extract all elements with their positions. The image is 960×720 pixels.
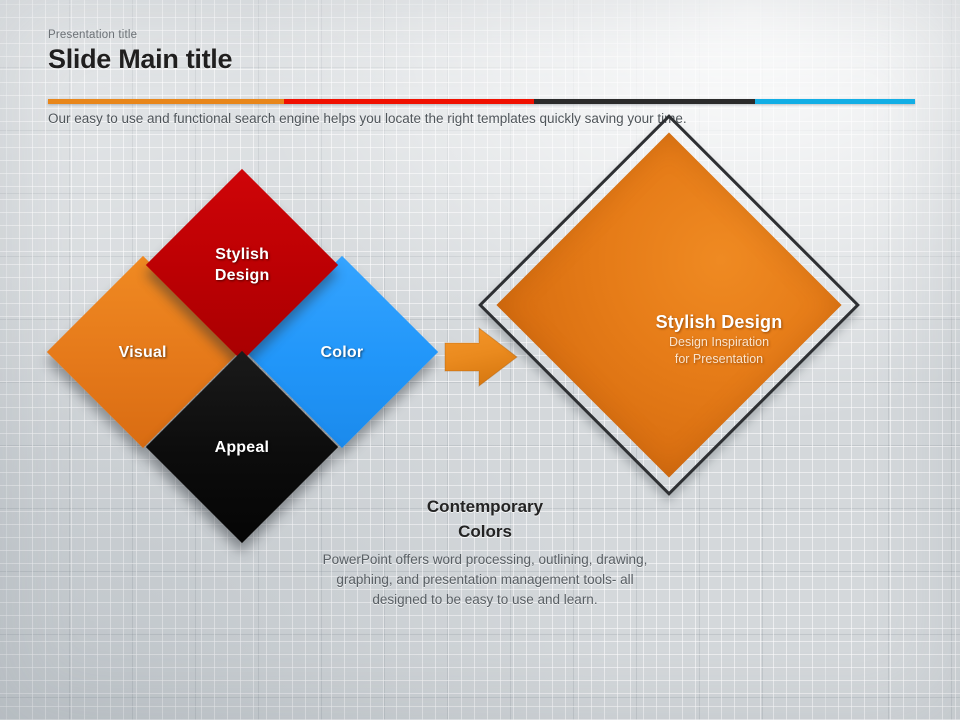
caption-block: Contemporary Colors PowerPoint offers wo…: [286, 494, 684, 610]
caption-body: PowerPoint offers word processing, outli…: [286, 550, 684, 610]
result-diamond-title: Stylish Design: [520, 310, 918, 334]
diamond-stylish-design-label: Stylish Design: [215, 244, 270, 286]
result-diamond-subtitle: Design Inspiration for Presentation: [520, 334, 918, 368]
diamond-color-label: Color: [321, 342, 364, 363]
diamond-appeal-label: Appeal: [215, 436, 270, 457]
slide-canvas: Presentation title Slide Main title Our …: [0, 0, 960, 720]
result-diamond-text: Stylish Design Design Inspiration for Pr…: [520, 310, 918, 368]
result-diamond-fill: [496, 132, 841, 477]
caption-title: Contemporary Colors: [286, 494, 684, 544]
diamond-visual-label: Visual: [119, 341, 167, 362]
